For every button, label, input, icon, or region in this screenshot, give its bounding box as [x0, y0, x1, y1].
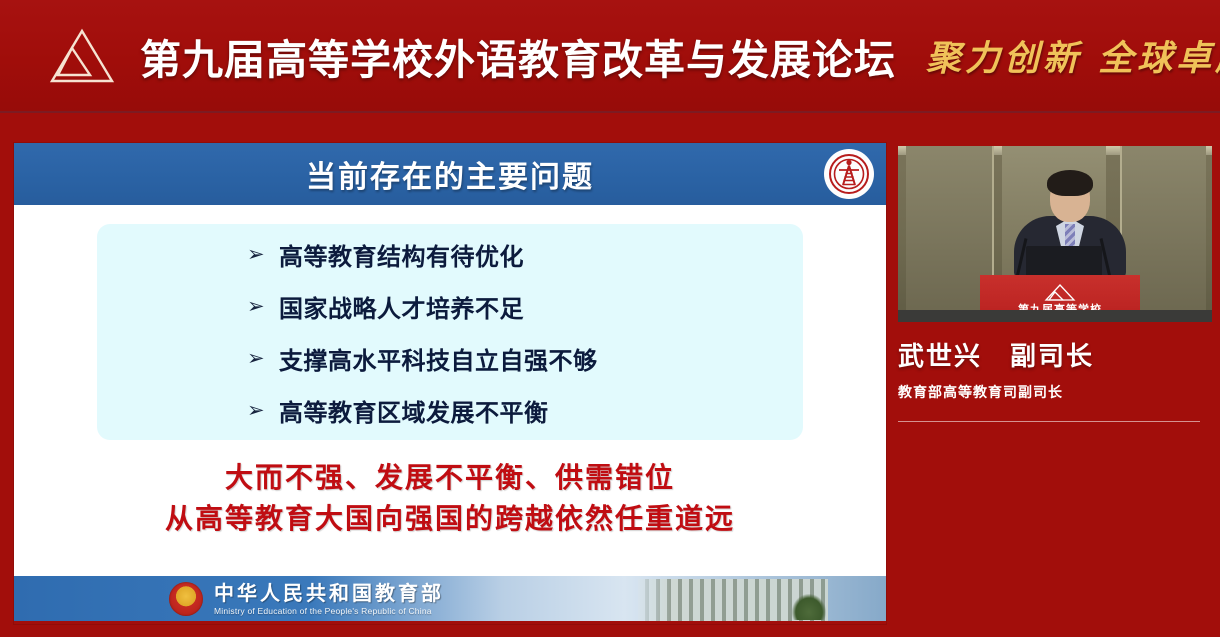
speaker-video-feed[interactable]: 第九届高等学校	[898, 146, 1212, 322]
arrow-bullet-icon: ➢	[247, 242, 279, 266]
slide-footer: 中华人民共和国教育部 Ministry of Education of the …	[14, 576, 886, 624]
speaker-hair	[1047, 170, 1093, 196]
slide-title: 当前存在的主要问题	[306, 152, 594, 196]
laptop-on-podium	[1026, 246, 1102, 278]
university-seal-icon	[824, 149, 874, 199]
list-item: ➢ 高等教育区域发展不平衡	[247, 387, 803, 433]
conclusion-line-1: 大而不强、发展不平衡、供需错位	[14, 457, 886, 498]
arrow-bullet-icon: ➢	[247, 294, 279, 318]
ministry-name-en: Ministry of Education of the People's Re…	[214, 606, 444, 616]
speaker-info: 武世兴 副司长 教育部高等教育司副司长	[898, 336, 1212, 422]
ministry-name-block: 中华人民共和国教育部 Ministry of Education of the …	[214, 582, 444, 616]
divider	[898, 421, 1200, 422]
arrow-bullet-icon: ➢	[247, 398, 279, 422]
speaker-name: 武世兴 副司长	[898, 336, 1212, 373]
broadcast-screen: 第九届高等学校外语教育改革与发展论坛 聚力创新 全球卓越 当前存在的主要问题	[0, 0, 1220, 637]
list-item: ➢ 国家战略人才培养不足	[247, 283, 803, 329]
event-title: 第九届高等学校外语教育改革与发展论坛	[140, 26, 896, 86]
presentation-slide[interactable]: 当前存在的主要问题 ➢ 高等教育结构有待优化 ➢	[14, 143, 886, 624]
list-item-label: 高等教育区域发展不平衡	[279, 393, 549, 428]
list-item-label: 支撑高水平科技自立自强不够	[279, 341, 598, 376]
speaker-title: 教育部高等教育司副司长	[898, 382, 1212, 402]
ministry-name-cn: 中华人民共和国教育部	[214, 582, 444, 604]
list-item-label: 高等教育结构有待优化	[279, 237, 524, 272]
event-slogan: 聚力创新 全球卓越	[926, 30, 1220, 81]
slide-body: ➢ 高等教育结构有待优化 ➢ 国家战略人才培养不足 ➢ 支撑高水平科技自立自强不…	[14, 205, 886, 564]
national-emblem-icon	[169, 582, 203, 616]
slide-header: 当前存在的主要问题	[14, 143, 886, 205]
conclusion-block: 大而不强、发展不平衡、供需错位 从高等教育大国向强国的跨越依然任重道远	[14, 457, 886, 539]
event-banner: 第九届高等学校外语教育改革与发展论坛 聚力创新 全球卓越	[0, 0, 1220, 113]
conclusion-line-2: 从高等教育大国向强国的跨越依然任重道远	[14, 498, 886, 539]
arrow-bullet-icon: ➢	[247, 346, 279, 370]
list-item-label: 国家战略人才培养不足	[279, 289, 524, 324]
list-item: ➢ 支撑高水平科技自立自强不够	[247, 335, 803, 381]
list-item: ➢ 高等教育结构有待优化	[247, 231, 803, 277]
issues-list: ➢ 高等教育结构有待优化 ➢ 国家战略人才培养不足 ➢ 支撑高水平科技自立自强不…	[97, 224, 803, 440]
triangle-mountain-logo-icon	[46, 25, 118, 87]
stage-floor	[898, 310, 1212, 322]
tree-decoration	[792, 594, 826, 620]
